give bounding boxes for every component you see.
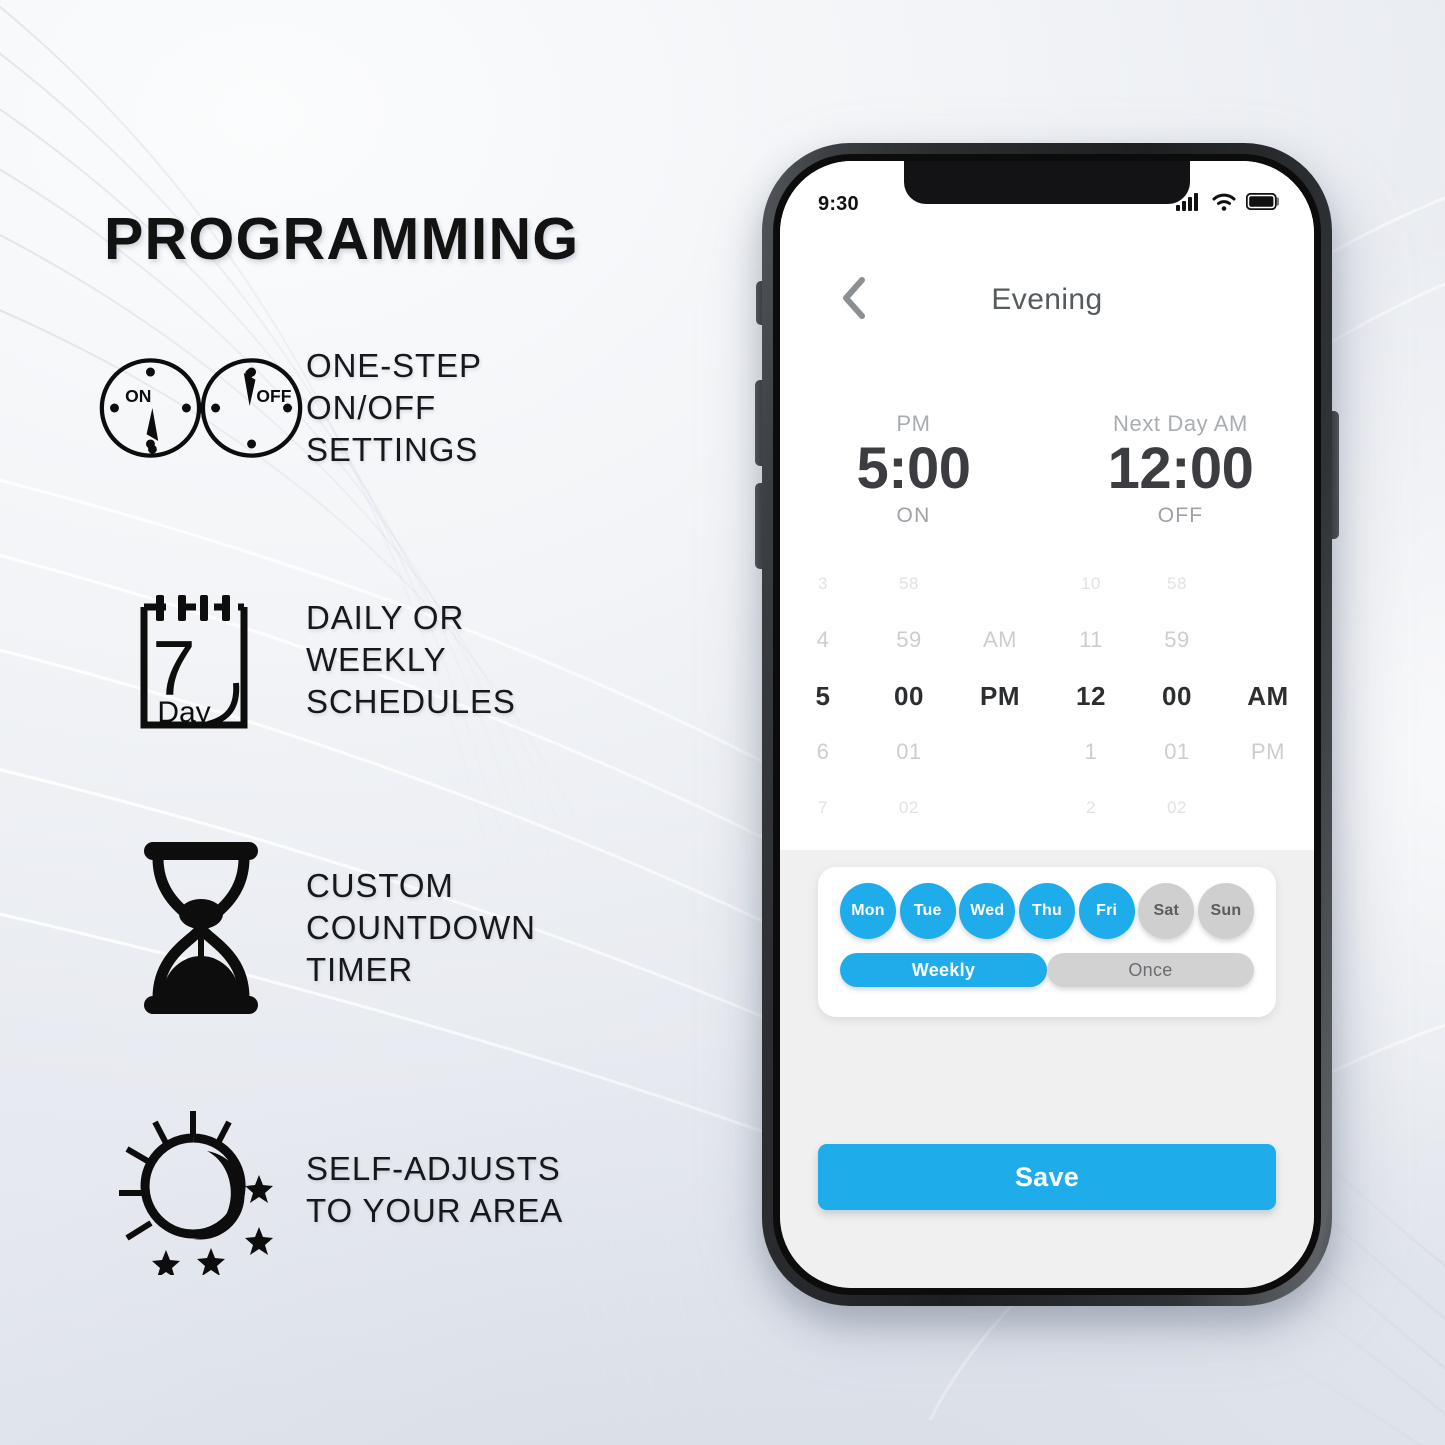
day-chip-mon[interactable]: Mon xyxy=(840,883,896,939)
picker-column-off-meridiem[interactable]: AM PM xyxy=(1220,556,1314,836)
seven-day-calendar-icon: 7 Day xyxy=(96,585,306,735)
summary-state: ON xyxy=(780,504,1047,528)
picker-column-off-hours[interactable]: 10 11 12 1 2 xyxy=(1048,556,1134,836)
day-chip-fri[interactable]: Fri xyxy=(1079,883,1135,939)
repeat-mode-row: Weekly Once xyxy=(840,953,1254,987)
picker-cell[interactable] xyxy=(1220,612,1314,668)
feature-label: DAILY OR WEEKLY SCHEDULES xyxy=(306,597,516,724)
day-label: Fri xyxy=(1096,902,1117,920)
picker-cell[interactable]: 59 xyxy=(866,612,952,668)
phone-bezel: 9:30 xyxy=(773,154,1321,1295)
day-chip-thu[interactable]: Thu xyxy=(1019,883,1075,939)
picker-cell-selected[interactable]: PM xyxy=(952,668,1048,724)
status-bar-time: 9:30 xyxy=(818,193,859,216)
day-label: Sun xyxy=(1211,902,1242,920)
day-chip-tue[interactable]: Tue xyxy=(900,883,956,939)
picker-cell[interactable]: 01 xyxy=(1134,724,1220,780)
picker-cell-selected[interactable]: 00 xyxy=(866,668,952,724)
picker-group-off[interactable]: 10 11 12 1 2 58 59 00 01 02 AM P xyxy=(1048,556,1314,836)
phone-device-frame: 9:30 xyxy=(762,143,1332,1306)
picker-cell[interactable]: 4 xyxy=(780,612,866,668)
picker-cell-selected[interactable]: 12 xyxy=(1048,668,1134,724)
clock-on-label: ON xyxy=(125,387,151,407)
sun-moon-stars-icon xyxy=(96,1105,306,1275)
picker-cell-selected[interactable]: AM xyxy=(1220,668,1314,724)
day-label: Thu xyxy=(1032,902,1062,920)
picker-cell[interactable]: 10 xyxy=(1048,556,1134,612)
picker-group-on[interactable]: 3 4 5 6 7 58 59 00 01 02 AM PM xyxy=(780,556,1048,836)
phone-screen: 9:30 xyxy=(780,161,1314,1288)
feature-item-one-step-on-off: ON OFF ONE-STEP ON/OFF SETTINGS xyxy=(96,345,716,472)
repeat-once-button[interactable]: Once xyxy=(1047,953,1254,987)
day-selector-row: Mon Tue Wed Thu Fri Sat Sun xyxy=(840,883,1254,939)
summary-time: 5:00 xyxy=(780,437,1047,502)
day-chip-wed[interactable]: Wed xyxy=(959,883,1015,939)
save-button-label: Save xyxy=(1015,1162,1079,1193)
save-button[interactable]: Save xyxy=(818,1144,1276,1210)
repeat-weekly-button[interactable]: Weekly xyxy=(840,953,1047,987)
picker-cell[interactable]: 59 xyxy=(1134,612,1220,668)
day-label: Sat xyxy=(1154,902,1180,920)
picker-column-on-hours[interactable]: 3 4 5 6 7 xyxy=(780,556,866,836)
picker-cell[interactable]: 3 xyxy=(780,556,866,612)
picker-cell[interactable]: 11 xyxy=(1048,612,1134,668)
time-summary-row: PM 5:00 ON Next Day AM 12:00 OFF xyxy=(780,411,1314,528)
nav-bar: Evening xyxy=(780,267,1314,333)
picker-cell[interactable]: 01 xyxy=(866,724,952,780)
summary-period: Next Day AM xyxy=(1047,411,1314,437)
day-label: Mon xyxy=(851,902,884,920)
picker-cell[interactable]: 02 xyxy=(1134,780,1220,836)
picker-cell[interactable]: 1 xyxy=(1048,724,1134,780)
picker-cell[interactable]: PM xyxy=(1220,724,1314,780)
battery-icon xyxy=(1246,193,1280,215)
picker-cell[interactable]: 58 xyxy=(1134,556,1220,612)
calendar-word: Day xyxy=(157,696,210,729)
on-off-clocks-icon: ON OFF xyxy=(96,356,306,460)
wifi-icon xyxy=(1212,193,1236,216)
summary-on-block: PM 5:00 ON xyxy=(780,411,1047,528)
feature-item-countdown-timer: CUSTOM COUNTDOWN TIMER xyxy=(96,840,716,1016)
day-label: Wed xyxy=(970,902,1004,920)
picker-cell-selected[interactable]: 5 xyxy=(780,668,866,724)
summary-off-block: Next Day AM 12:00 OFF xyxy=(1047,411,1314,528)
repeat-label: Weekly xyxy=(912,960,976,981)
hourglass-icon xyxy=(96,840,306,1016)
day-chip-sun[interactable]: Sun xyxy=(1198,883,1254,939)
picker-column-off-minutes[interactable]: 58 59 00 01 02 xyxy=(1134,556,1220,836)
picker-cell[interactable] xyxy=(1220,780,1314,836)
summary-time: 12:00 xyxy=(1047,437,1314,502)
picker-cell-selected[interactable]: 00 xyxy=(1134,668,1220,724)
chevron-left-icon xyxy=(839,276,869,325)
day-chip-sat[interactable]: Sat xyxy=(1138,883,1194,939)
back-button[interactable] xyxy=(832,278,876,322)
summary-period: PM xyxy=(780,411,1047,437)
clock-off-label: OFF xyxy=(256,387,291,407)
picker-cell[interactable]: 7 xyxy=(780,780,866,836)
time-picker-area[interactable]: 3 4 5 6 7 58 59 00 01 02 AM PM xyxy=(780,556,1314,836)
feature-item-daily-weekly: 7 Day DAILY OR WEEKLY SCHEDULES xyxy=(96,585,716,735)
page-title: PROGRAMMING xyxy=(104,205,579,273)
picker-cell[interactable]: 2 xyxy=(1048,780,1134,836)
repeat-label: Once xyxy=(1128,960,1172,981)
feature-label: ONE-STEP ON/OFF SETTINGS xyxy=(306,345,482,472)
picker-column-on-minutes[interactable]: 58 59 00 01 02 xyxy=(866,556,952,836)
picker-cell[interactable]: 6 xyxy=(780,724,866,780)
schedule-card: Mon Tue Wed Thu Fri Sat Sun Weekly Once xyxy=(818,867,1276,1017)
picker-cell[interactable]: AM xyxy=(952,612,1048,668)
picker-cell[interactable] xyxy=(952,724,1048,780)
day-label: Tue xyxy=(914,902,942,920)
picker-cell[interactable]: 02 xyxy=(866,780,952,836)
picker-cell[interactable]: 58 xyxy=(866,556,952,612)
feature-label: SELF-ADJUSTS TO YOUR AREA xyxy=(306,1148,563,1232)
feature-label: CUSTOM COUNTDOWN TIMER xyxy=(306,865,536,992)
summary-state: OFF xyxy=(1047,504,1314,528)
feature-item-self-adjusts: SELF-ADJUSTS TO YOUR AREA xyxy=(96,1105,716,1275)
picker-cell[interactable] xyxy=(1220,556,1314,612)
phone-notch xyxy=(904,161,1190,204)
left-feature-panel: PROGRAMMING ON OFF xyxy=(0,0,760,1445)
picker-column-on-meridiem[interactable]: AM PM xyxy=(952,556,1048,836)
picker-cell[interactable] xyxy=(952,780,1048,836)
picker-cell[interactable] xyxy=(952,556,1048,612)
